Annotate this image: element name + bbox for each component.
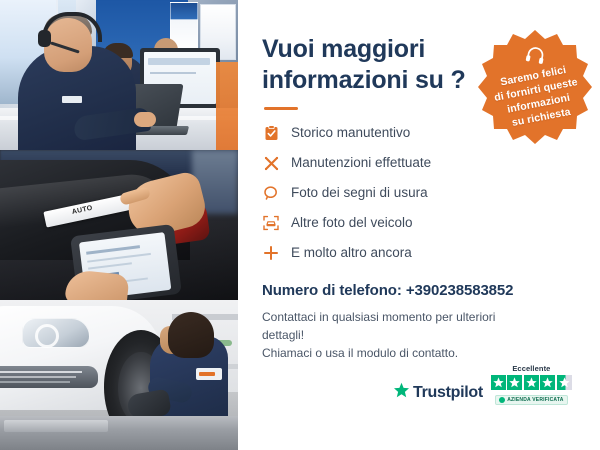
trustpilot-logo: Trustpilot xyxy=(393,382,483,408)
plus-icon xyxy=(262,244,280,262)
list-item-label: Manutenzioni effettuate xyxy=(291,155,431,171)
verified-label: AZIENDA VERIFICATA xyxy=(507,397,563,403)
star-rating xyxy=(491,375,572,390)
feature-list: Storico manutentivo Manutenzioni effettu… xyxy=(262,124,512,262)
magnifier-icon xyxy=(262,184,280,202)
phone-label: Numero di telefono: xyxy=(262,282,402,299)
list-item: Altre foto del veicolo xyxy=(262,214,512,232)
contact-description: Contattaci in qualsiasi momento per ulte… xyxy=(262,308,522,362)
contact-description-line-1: Contattaci in qualsiasi momento per ulte… xyxy=(262,308,522,344)
list-item: Storico manutentivo xyxy=(262,124,512,142)
clipboard-check-icon xyxy=(262,124,280,142)
page-title: Vuoi maggiori informazioni su ? xyxy=(262,34,477,95)
list-item-label: E molto altro ancora xyxy=(291,245,412,261)
mechanic-wheel-photo xyxy=(0,300,238,450)
trustpilot-wordmark: Trustpilot xyxy=(413,384,483,402)
title-underline-rule xyxy=(264,107,298,110)
vehicle-inspection-photo: AUTO xyxy=(0,150,238,300)
promo-banner: AUTO xyxy=(0,0,600,450)
headset-earcup-icon xyxy=(38,30,51,47)
star-glyph xyxy=(540,375,555,390)
lift-pad xyxy=(4,420,108,432)
request-info-badge: Saremo felici di fornirti queste informa… xyxy=(476,28,594,146)
car-grille xyxy=(0,366,98,388)
orange-signage xyxy=(216,62,238,150)
rating-star-half xyxy=(557,375,572,390)
list-item-label: Foto dei segni di usura xyxy=(291,185,428,201)
trustpilot-widget[interactable]: Trustpilot Eccellente xyxy=(393,364,572,408)
verified-business-badge: AZIENDA VERIFICATA xyxy=(495,395,567,405)
rating-label: Eccellente xyxy=(491,364,572,373)
operator-hand xyxy=(134,112,156,127)
rating-star xyxy=(524,375,539,390)
uniform-logo-patch xyxy=(196,368,222,380)
photo-column: AUTO xyxy=(0,0,238,450)
tool-brand-label: AUTO xyxy=(71,205,93,216)
list-item: Manutenzioni effettuate xyxy=(262,154,512,172)
list-item: E molto altro ancora xyxy=(262,244,512,262)
phone-line: Numero di telefono: +390238583852 xyxy=(262,282,578,299)
rating-star xyxy=(491,375,506,390)
car-headlight xyxy=(22,318,90,348)
operator-name-badge xyxy=(62,96,82,103)
monitor-content-rows xyxy=(150,72,206,75)
content-panel: Vuoi maggiori informazioni su ? Saremo f… xyxy=(238,0,600,450)
star-glyph xyxy=(507,375,522,390)
wrench-cross-icon xyxy=(262,154,280,172)
trustpilot-star-icon xyxy=(393,382,410,404)
list-item-label: Storico manutentivo xyxy=(291,125,410,141)
car-frame-icon xyxy=(262,214,280,232)
star-glyph xyxy=(524,375,539,390)
list-item: Foto dei segni di usura xyxy=(262,184,512,202)
headlight-ring xyxy=(35,324,59,348)
call-center-operator-photo xyxy=(0,0,238,150)
phone-number[interactable]: +390238583852 xyxy=(406,282,514,299)
star-glyph xyxy=(491,375,506,390)
monitor-toolbar xyxy=(148,58,210,65)
rating-star xyxy=(540,375,555,390)
rating-star xyxy=(507,375,522,390)
contact-description-line-2: Chiamaci o usa il modulo di contatto. xyxy=(262,344,522,362)
grille-slats xyxy=(0,371,82,383)
trustpilot-rating: Eccellente xyxy=(491,364,572,408)
mechanic-hair xyxy=(168,312,214,358)
list-item-label: Altre foto del veicolo xyxy=(291,215,413,231)
star-glyph xyxy=(557,375,572,390)
check-circle-icon xyxy=(499,397,505,403)
